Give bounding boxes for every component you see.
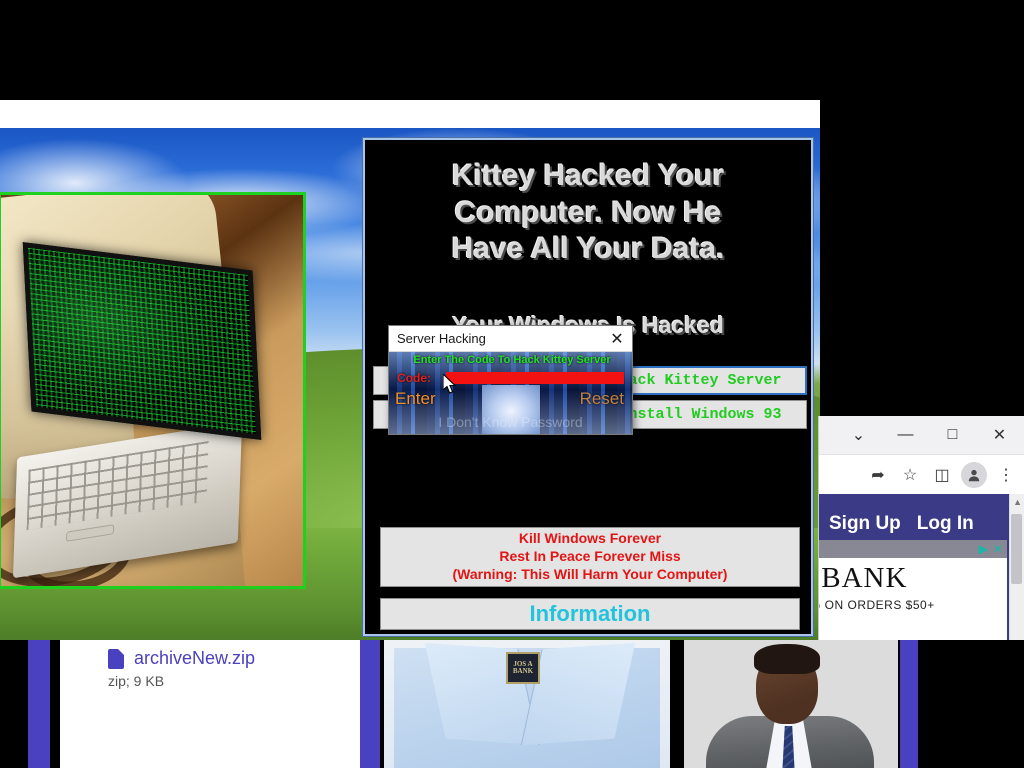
dialog-titlebar[interactable]: Server Hacking ✕ — [389, 326, 632, 352]
download-item[interactable]: archiveNew.zip — [60, 640, 378, 669]
dont-know-password-text: I Don't Know Password — [389, 414, 632, 430]
close-icon[interactable]: ✕ — [602, 326, 632, 352]
maximize-icon[interactable]: □ — [930, 416, 975, 454]
download-file-name[interactable]: archiveNew.zip — [134, 648, 255, 669]
headline-line-1: Kittey Hacked Your — [379, 158, 797, 195]
purple-divider — [360, 640, 380, 768]
reset-button[interactable]: Reset — [580, 389, 624, 409]
top-black-band — [0, 0, 1024, 100]
white-strip — [0, 100, 820, 128]
warning-line-2: Rest In Peace Forever Miss — [499, 548, 680, 566]
share-icon[interactable]: ➦ — [864, 461, 892, 489]
favorite-star-icon[interactable]: ☆ — [896, 461, 924, 489]
kill-windows-warning-button[interactable]: Kill Windows Forever Rest In Peace Forev… — [380, 527, 800, 587]
bottom-strip: archiveNew.zip zip; 9 KB JOS A BANK — [0, 640, 1024, 768]
server-hacking-dialog: Server Hacking ✕ Enter The Code To Hack … — [388, 325, 633, 435]
mouse-pointer — [443, 374, 459, 396]
chevron-down-icon[interactable]: ⌄ — [836, 416, 881, 454]
dialog-prompt: Enter The Code To Hack Kittey Server — [396, 354, 628, 366]
ad-brand-text: .BANK — [819, 562, 907, 595]
model-hair — [754, 644, 820, 674]
laptop-matrix-photo — [0, 192, 306, 589]
information-button[interactable]: Information — [380, 598, 800, 630]
code-input[interactable] — [446, 372, 624, 384]
photo-laptop-keyboard — [27, 441, 209, 530]
ad-play-icon[interactable]: ▶ — [979, 542, 988, 556]
collections-icon[interactable]: ◫ — [928, 461, 956, 489]
browser-titlebar: ⌄ — □ ✕ — [819, 416, 1024, 454]
product-image-dress-shirt[interactable]: JOS A BANK — [384, 640, 670, 768]
headline-line-3: Have All Your Data. — [379, 231, 797, 268]
dialog-title: Server Hacking — [397, 331, 486, 346]
download-file-meta: zip; 9 KB — [60, 669, 378, 689]
warning-line-3: (Warning: This Will Harm Your Computer) — [453, 566, 728, 584]
scroll-up-arrow-icon[interactable]: ▲ — [1013, 497, 1022, 507]
purple-divider — [28, 640, 50, 768]
sign-up-link[interactable]: Sign Up — [829, 513, 901, 535]
matrix-code-effect — [28, 248, 256, 434]
avatar — [961, 462, 987, 488]
browser-toolbar: ➦ ☆ ◫ ⋮ — [819, 454, 1024, 494]
zip-file-icon — [108, 649, 124, 669]
dialog-body: Enter The Code To Hack Kittey Server Cod… — [389, 352, 632, 435]
ad-shipping-text: G ON ORDERS $50+ — [819, 598, 935, 612]
information-button-label: Information — [530, 601, 651, 627]
photo-laptop-screen — [23, 242, 261, 440]
download-panel: archiveNew.zip zip; 9 KB — [60, 640, 378, 768]
photo-laptop-trackpad — [66, 524, 114, 542]
more-menu-icon[interactable]: ⋮ — [992, 461, 1020, 489]
warning-line-1: Kill Windows Forever — [519, 530, 661, 548]
screen-root: Kittey Hacked Your Computer. Now He Have… — [0, 0, 1024, 768]
purple-divider — [900, 640, 918, 768]
log-in-link[interactable]: Log In — [917, 513, 974, 535]
enter-button[interactable]: Enter — [395, 389, 436, 409]
headline-line-2: Computer. Now He — [379, 195, 797, 232]
malware-headline: Kittey Hacked Your Computer. Now He Have… — [379, 158, 797, 268]
close-icon[interactable]: ✕ — [977, 416, 1022, 454]
code-label: Code: — [397, 371, 431, 385]
minimize-icon[interactable]: — — [883, 416, 928, 454]
scrollbar-thumb[interactable] — [1011, 514, 1022, 584]
shirt-brand-label: JOS A BANK — [506, 652, 540, 684]
profile-avatar-icon[interactable] — [960, 461, 988, 489]
ad-close-icon[interactable]: ✕ — [993, 542, 1003, 556]
ad-control-bar: ▶ ✕ — [819, 540, 1007, 558]
product-image-model[interactable] — [684, 640, 898, 768]
